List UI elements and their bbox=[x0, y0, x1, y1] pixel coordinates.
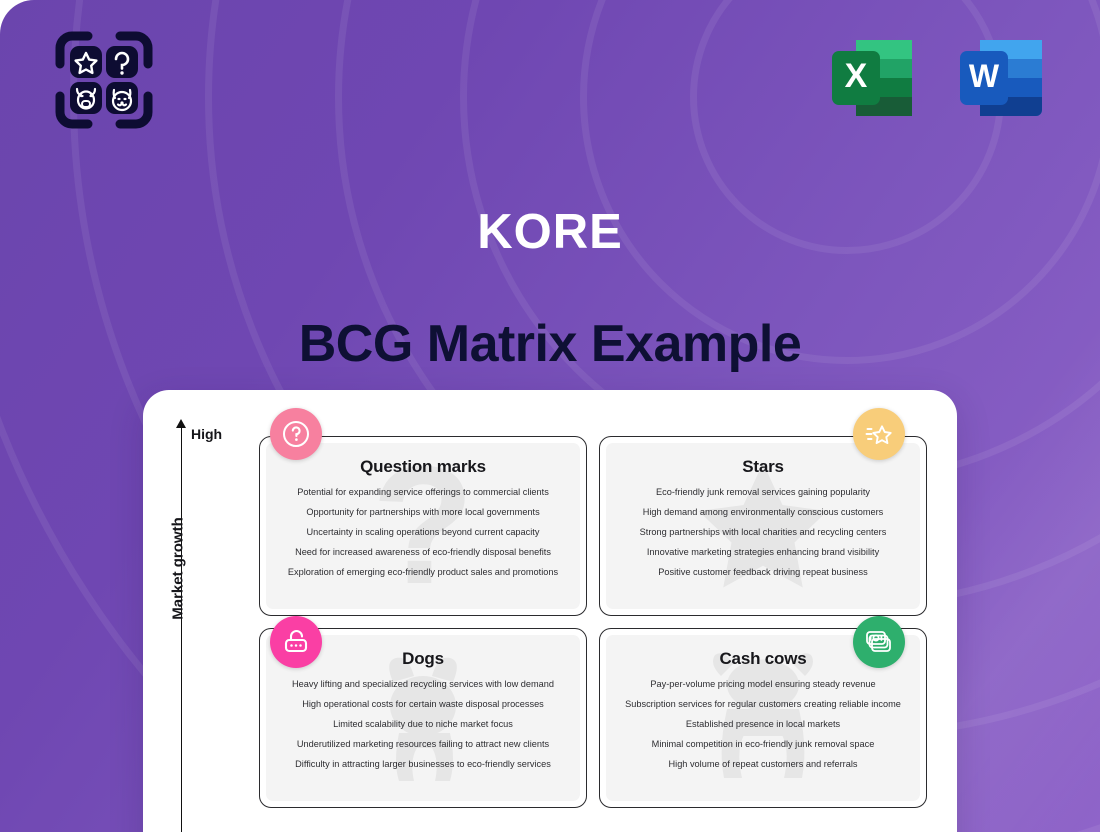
y-axis-high-label: High bbox=[191, 426, 222, 442]
export-format-icons: X W bbox=[820, 26, 1054, 130]
microsoft-excel-icon[interactable]: X bbox=[820, 26, 924, 130]
star-icon bbox=[863, 418, 895, 450]
badge-dogs[interactable] bbox=[270, 616, 322, 668]
page-title: BCG Matrix Example bbox=[0, 316, 1100, 373]
list-item: Underutilized marketing resources failin… bbox=[278, 739, 568, 751]
quadrant-panel: ? Question marks Potential for expanding… bbox=[266, 443, 580, 609]
list-item: Strong partnerships with local charities… bbox=[618, 527, 908, 539]
list-item: Potential for expanding service offering… bbox=[278, 487, 568, 499]
badge-cash-cows[interactable] bbox=[853, 616, 905, 668]
list-item: Limited scalability due to niche market … bbox=[278, 719, 568, 731]
list-item: Heavy lifting and specialized recycling … bbox=[278, 679, 568, 691]
list-item: Difficulty in attracting larger business… bbox=[278, 759, 568, 771]
list-item: Opportunity for partnerships with more l… bbox=[278, 507, 568, 519]
list-item: Established presence in local markets bbox=[618, 719, 908, 731]
badge-stars[interactable] bbox=[853, 408, 905, 460]
list-item: Pay-per-volume pricing model ensuring st… bbox=[618, 679, 908, 691]
quadrant-question-marks[interactable]: ? Question marks Potential for expanding… bbox=[259, 436, 587, 616]
list-item: Exploration of emerging eco-friendly pro… bbox=[278, 567, 568, 579]
badge-question-marks[interactable] bbox=[270, 408, 322, 460]
quadrant-item-list: Potential for expanding service offering… bbox=[278, 487, 568, 579]
quadrant-grid: ? Question marks Potential for expanding… bbox=[259, 436, 927, 808]
y-axis-line bbox=[181, 426, 182, 832]
list-item: Uncertainty in scaling operations beyond… bbox=[278, 527, 568, 539]
list-item: Positive customer feedback driving repea… bbox=[618, 567, 908, 579]
y-axis-title: Market growth bbox=[170, 509, 187, 629]
quadrant-item-list: Heavy lifting and specialized recycling … bbox=[278, 679, 568, 771]
list-item: Eco-friendly junk removal services gaini… bbox=[618, 487, 908, 499]
cash-stack-icon bbox=[863, 626, 895, 658]
list-item: Subscription services for regular custom… bbox=[618, 699, 908, 711]
quadrant-stars[interactable]: Stars Eco-friendly junk removal services… bbox=[599, 436, 927, 616]
list-item: High demand among environmentally consci… bbox=[618, 507, 908, 519]
list-item: Need for increased awareness of eco-frie… bbox=[278, 547, 568, 559]
list-item: Innovative marketing strategies enhancin… bbox=[618, 547, 908, 559]
quadrant-panel: Stars Eco-friendly junk removal services… bbox=[606, 443, 920, 609]
slide-canvas: X W KORE BCG Matrix Example High Market … bbox=[0, 0, 1100, 832]
quadrant-title: Question marks bbox=[278, 457, 568, 477]
svg-text:W: W bbox=[969, 58, 1000, 94]
svg-text:X: X bbox=[845, 57, 868, 95]
brand-wordmark: KORE bbox=[0, 208, 1100, 257]
microsoft-word-icon[interactable]: W bbox=[950, 26, 1054, 130]
padlock-icon bbox=[280, 626, 312, 658]
question-mark-icon bbox=[280, 418, 312, 450]
bcg-matrix-card: High Market growth ? Question marks Pote… bbox=[143, 390, 957, 832]
quadrant-title: Stars bbox=[618, 457, 908, 477]
kore-logo bbox=[52, 28, 156, 132]
quadrant-item-list: Eco-friendly junk removal services gaini… bbox=[618, 487, 908, 579]
list-item: High volume of repeat customers and refe… bbox=[618, 759, 908, 771]
list-item: High operational costs for certain waste… bbox=[278, 699, 568, 711]
quadrant-item-list: Pay-per-volume pricing model ensuring st… bbox=[618, 679, 908, 771]
list-item: Minimal competition in eco-friendly junk… bbox=[618, 739, 908, 751]
quadrant-title: Dogs bbox=[278, 649, 568, 669]
